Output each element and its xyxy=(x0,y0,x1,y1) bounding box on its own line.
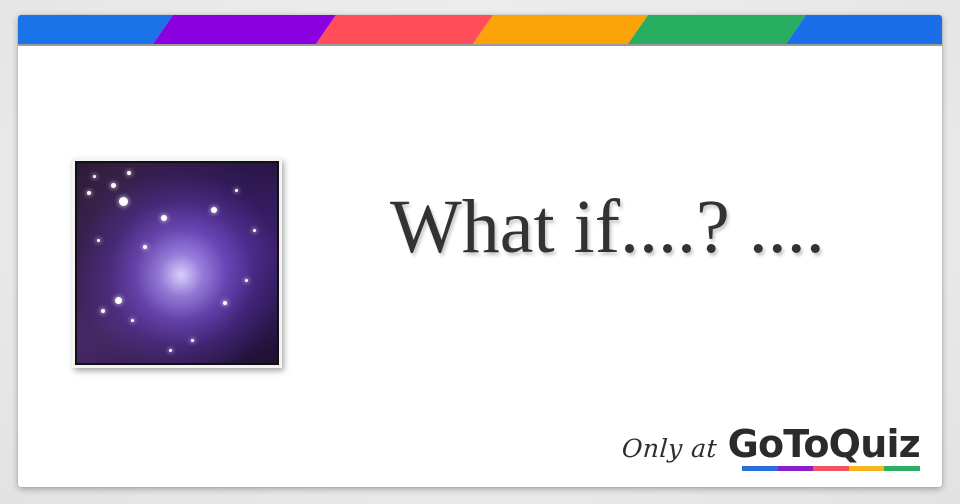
ribbon-bottom-rule xyxy=(18,44,942,46)
star-icon xyxy=(169,349,172,352)
only-at-label: Only at xyxy=(621,434,718,463)
photo-frame xyxy=(72,158,282,368)
star-icon xyxy=(161,215,167,221)
star-icon xyxy=(253,229,256,232)
ribbon-segment-blue-2 xyxy=(786,15,942,44)
brand-wordmark: GoToQuiz xyxy=(728,426,920,462)
star-icon xyxy=(93,175,96,178)
logo-underline-segment-3 xyxy=(813,466,849,471)
ribbon-svg xyxy=(18,15,942,44)
star-icon xyxy=(211,207,217,213)
star-icon xyxy=(143,245,147,249)
logo-underline-segment-1 xyxy=(742,466,778,471)
star-icon xyxy=(115,297,122,304)
page-backdrop: What if....? .... Only at GoToQuiz xyxy=(0,0,960,504)
star-icon xyxy=(87,191,91,195)
logo-underline-segment-4 xyxy=(849,466,885,471)
logo-text-row: Only at GoToQuiz xyxy=(622,426,920,463)
star-icon xyxy=(223,301,227,305)
ribbon-segment-purple xyxy=(153,15,336,44)
ribbon-segment-red xyxy=(316,15,493,44)
logo-underline-bar xyxy=(742,466,920,471)
slide-card: What if....? .... Only at GoToQuiz xyxy=(18,15,942,487)
galaxy-nebula-photo xyxy=(75,161,279,365)
star-icon xyxy=(101,309,105,313)
star-icon xyxy=(97,239,100,242)
ribbon-segment-blue-1 xyxy=(18,15,173,44)
star-icon xyxy=(245,279,248,282)
star-icon xyxy=(235,189,238,192)
page-title: What if....? .... xyxy=(390,189,910,265)
top-color-ribbon xyxy=(18,15,942,44)
ribbon-segment-green xyxy=(628,15,806,44)
gotoquiz-logo: Only at GoToQuiz xyxy=(622,426,920,471)
star-icon xyxy=(119,197,128,206)
star-icon xyxy=(131,319,134,322)
logo-underline-segment-5 xyxy=(884,466,920,471)
logo-underline-segment-2 xyxy=(778,466,814,471)
star-icon xyxy=(191,339,194,342)
star-icon xyxy=(127,171,131,175)
ribbon-segment-orange xyxy=(473,15,648,44)
star-icon xyxy=(111,183,116,188)
